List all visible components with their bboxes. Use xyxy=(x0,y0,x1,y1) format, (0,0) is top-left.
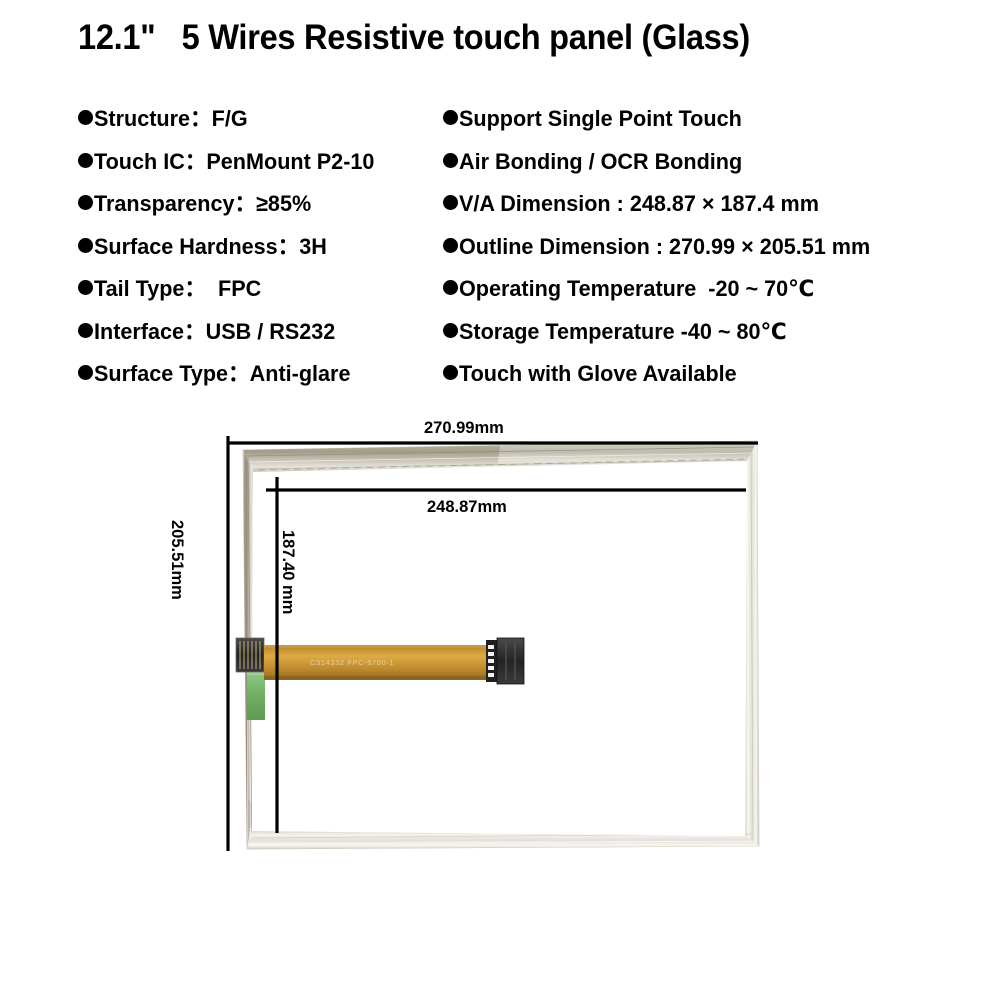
spec-item-bonding: Air Bonding / OCR Bonding xyxy=(443,141,887,184)
bezel-left-rail xyxy=(243,450,253,849)
spec-item-touch-ic: Touch IC：PenMount P2-10 xyxy=(78,141,386,184)
bullet-icon xyxy=(443,110,458,125)
spec-item-structure: Structure：F/G xyxy=(78,98,386,141)
spec-item-operating-temperature: Operating Temperature -20 ~ 70℃ xyxy=(443,268,887,311)
spec-item-label: Structure：F/G xyxy=(94,98,248,141)
bullet-icon xyxy=(443,153,458,168)
active-width-label: 248.87mm xyxy=(427,498,507,517)
bullet-icon xyxy=(78,153,93,168)
spec-item-label: Transparency：≥85% xyxy=(94,183,311,226)
bullet-icon xyxy=(78,323,93,338)
spec-item-surface-hardness: Surface Hardness：3H xyxy=(78,226,386,269)
fpc-cable-body xyxy=(264,645,486,680)
fpc-end-connector xyxy=(497,638,524,684)
outline-height-label: 205.51mm xyxy=(167,520,186,600)
spec-item-label: Tail Type： FPC xyxy=(94,268,261,311)
spec-item-label: Operating Temperature -20 ~ 70℃ xyxy=(459,268,814,311)
fpc-cable-marking: C314332 FPC-5700-1 xyxy=(310,658,394,667)
panel-side-connector-outline xyxy=(236,638,264,672)
spec-item-label: V/A Dimension : 248.87 × 187.4 mm xyxy=(459,183,819,226)
bezel-laminate-line xyxy=(253,460,752,469)
spec-item-label: Interface：USB / RS232 xyxy=(94,311,335,354)
bezel-right-rail xyxy=(745,441,759,846)
bezel-laminate-line xyxy=(747,460,749,838)
spec-item-storage-temperature: Storage Temperature -40 ~ 80℃ xyxy=(443,311,887,354)
bullet-icon xyxy=(443,195,458,210)
bezel-laminate-line xyxy=(252,464,255,841)
outline-width-label: 270.99mm xyxy=(424,419,504,438)
fpc-connector-pins xyxy=(488,645,494,677)
spec-item-label: Touch with Glove Available xyxy=(459,353,737,396)
bullet-icon xyxy=(78,238,93,253)
spec-item-va-dimension: V/A Dimension : 248.87 × 187.4 mm xyxy=(443,183,887,226)
active-touch-area xyxy=(252,461,747,836)
panel-side-connector xyxy=(236,638,264,672)
bezel-trace-marks xyxy=(249,800,251,828)
fpc-connector-contact-strip xyxy=(486,640,497,682)
active-height-label: 187.40 mm xyxy=(278,530,297,614)
spec-item-label: Surface Hardness：3H xyxy=(94,226,327,269)
spec-item-label: Support Single Point Touch xyxy=(459,98,742,141)
fpc-cable-shadow xyxy=(264,676,486,679)
bezel-laminate-line xyxy=(248,456,252,845)
spec-item-single-point-touch: Support Single Point Touch xyxy=(443,98,887,141)
bezel-laminate-line xyxy=(247,447,755,456)
bullet-icon xyxy=(443,238,458,253)
inner-trace-dotted-line xyxy=(258,459,744,470)
spec-item-interface: Interface：USB / RS232 xyxy=(78,311,386,354)
bullet-icon xyxy=(443,323,458,338)
spec-item-label: Outline Dimension : 270.99 × 205.51 mm xyxy=(459,226,870,269)
spec-item-outline-dimension: Outline Dimension : 270.99 × 205.51 mm xyxy=(443,226,887,269)
bezel-laminate-line xyxy=(751,452,753,842)
spec-item-tail-type: Tail Type： FPC xyxy=(78,268,386,311)
spec-list-right: Support Single Point Touch Air Bonding /… xyxy=(443,98,887,396)
spec-item-label: Touch IC：PenMount P2-10 xyxy=(94,141,374,184)
bullet-icon xyxy=(78,280,93,295)
bezel-bottom-rail xyxy=(247,831,759,849)
panel-side-connector-pins xyxy=(240,641,260,669)
bezel-laminate-line xyxy=(250,453,754,462)
page-title: 12.1" 5 Wires Resistive touch panel (Gla… xyxy=(78,18,750,58)
bullet-icon xyxy=(78,110,93,125)
spec-item-glove-touch: Touch with Glove Available xyxy=(443,353,887,396)
bullet-icon xyxy=(443,280,458,295)
bezel-laminate-line xyxy=(250,841,756,844)
fpc-cable-highlight xyxy=(264,645,486,648)
bezel-left-rail-lower xyxy=(247,650,251,849)
spec-item-label: Storage Temperature -40 ~ 80℃ xyxy=(459,311,787,354)
spec-list-left: Structure：F/G Touch IC：PenMount P2-10 Tr… xyxy=(78,98,386,396)
fpc-ribbon-cable: C314332 FPC-5700-1 xyxy=(236,638,524,720)
bullet-icon xyxy=(78,195,93,210)
bezel-top-rail-right xyxy=(497,441,757,468)
bezel-laminate-line xyxy=(252,834,753,838)
bullet-icon xyxy=(443,365,458,380)
green-pcb-tab-highlight xyxy=(247,672,265,675)
spec-item-label: Air Bonding / OCR Bonding xyxy=(459,141,742,184)
spec-item-transparency: Transparency：≥85% xyxy=(78,183,386,226)
fpc-end-connector-outline xyxy=(497,638,524,684)
green-pcb-tab xyxy=(247,672,265,720)
spec-item-label: Surface Type：Anti-glare xyxy=(94,353,350,396)
bullet-icon xyxy=(78,365,93,380)
bezel-top-rail xyxy=(243,441,757,472)
spec-item-surface-type: Surface Type：Anti-glare xyxy=(78,353,386,396)
